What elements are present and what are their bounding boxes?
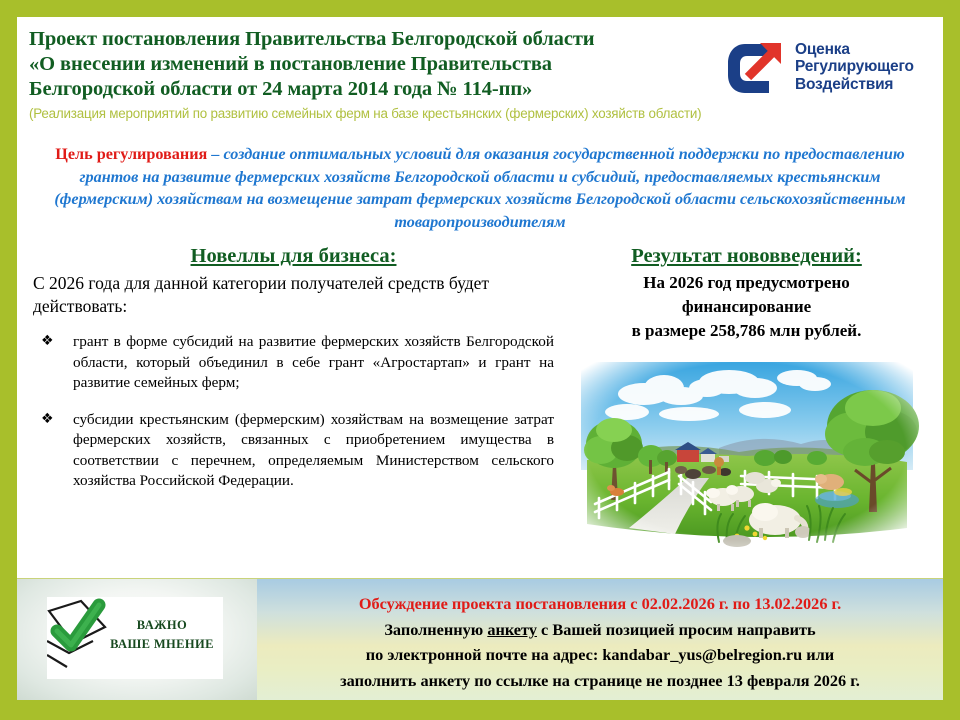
vazhno-line-1: ВАЖНО: [109, 616, 215, 635]
orv-logo-text: Оценка Регулирующего Воздействия: [795, 41, 914, 94]
content-columns: Новеллы для бизнеса: С 2026 года для дан…: [17, 233, 943, 550]
slide-sheet: Проект постановления Правительства Белго…: [17, 17, 943, 700]
bottom-notice-panel: Обсуждение проекта постановления с 02.02…: [257, 579, 943, 700]
diamond-bullet-icon: ❖: [41, 331, 54, 352]
list-item-text: грант в форме субсидий на развитие ферме…: [73, 333, 554, 391]
notice-line-2-suffix: с Вашей позицией просим направить: [537, 620, 816, 639]
vazhno-vashe-mnenie-image: ВАЖНО ВАШЕ МНЕНИЕ: [47, 597, 223, 679]
notice-text: Обсуждение проекта постановления с 02.02…: [257, 591, 943, 693]
right-column-heading: Результат нововведений:: [564, 245, 929, 268]
notice-line-1: Обсуждение проекта постановления с 02.02…: [257, 591, 943, 617]
orv-logo-line-1: Оценка: [795, 41, 914, 59]
orv-logo: Оценка Регулирующего Воздействия: [725, 31, 931, 103]
farm-landscape-illustration: [569, 352, 925, 550]
title-line-3: Белгородской области от 24 марта 2014 го…: [29, 77, 719, 102]
orv-logo-line-2: Регулирующего: [795, 58, 914, 76]
orv-logo-mark-icon: [725, 37, 787, 97]
anketa-link[interactable]: анкету: [487, 620, 537, 639]
list-item: ❖ грант в форме субсидий на развитие фер…: [33, 332, 554, 394]
result-line-3: в размере 258,786 млн рублей.: [564, 320, 929, 342]
result-line-1: На 2026 год предусмотрено: [564, 272, 929, 294]
goal-statement: Цель регулирования – создание оптимальны…: [17, 139, 943, 233]
left-column-intro: С 2026 года для данной категории получат…: [33, 272, 554, 318]
orv-logo-line-3: Воздействия: [795, 76, 914, 94]
list-item-text: субсидии крестьянским (фермерским) хозяй…: [73, 411, 554, 490]
notice-line-2: Заполненную анкету с Вашей позицией прос…: [257, 617, 943, 643]
notice-line-4: заполнить анкету по ссылке на странице н…: [257, 668, 943, 694]
title-line-1: Проект постановления Правительства Белго…: [29, 27, 719, 52]
slide-root: Проект постановления Правительства Белго…: [0, 0, 960, 720]
bottom-left-panel: ВАЖНО ВАШЕ МНЕНИЕ: [17, 579, 257, 700]
result-line-2: финансирование: [564, 296, 929, 318]
notice-line-2-prefix: Заполненную: [384, 620, 487, 639]
novelty-bullet-list: ❖ грант в форме субсидий на развитие фер…: [33, 332, 554, 492]
title-line-2: «О внесении изменений в постановление Пр…: [29, 52, 719, 77]
notice-line-3: по электронной почте на адрес: kandabar_…: [257, 642, 943, 668]
list-item: ❖ субсидии крестьянским (фермерским) хоз…: [33, 410, 554, 492]
title-block: Проект постановления Правительства Белго…: [29, 27, 719, 123]
header: Проект постановления Правительства Белго…: [17, 17, 943, 139]
goal-label: Цель регулирования: [55, 145, 207, 163]
bottom-panel: ВАЖНО ВАШЕ МНЕНИЕ Обсуждение проекта пос…: [17, 579, 943, 700]
left-column: Новеллы для бизнеса: С 2026 года для дан…: [17, 245, 562, 550]
header-subtitle: (Реализация мероприятий по развитию семе…: [29, 105, 719, 123]
vazhno-line-2: ВАШЕ МНЕНИЕ: [109, 635, 215, 654]
left-column-heading: Новеллы для бизнеса:: [33, 245, 554, 268]
diamond-bullet-icon: ❖: [41, 409, 54, 430]
vazhno-vashe-mnenie-text: ВАЖНО ВАШЕ МНЕНИЕ: [109, 616, 215, 654]
goal-dash: –: [207, 145, 223, 163]
right-column: Результат нововведений: На 2026 год пред…: [562, 245, 943, 550]
